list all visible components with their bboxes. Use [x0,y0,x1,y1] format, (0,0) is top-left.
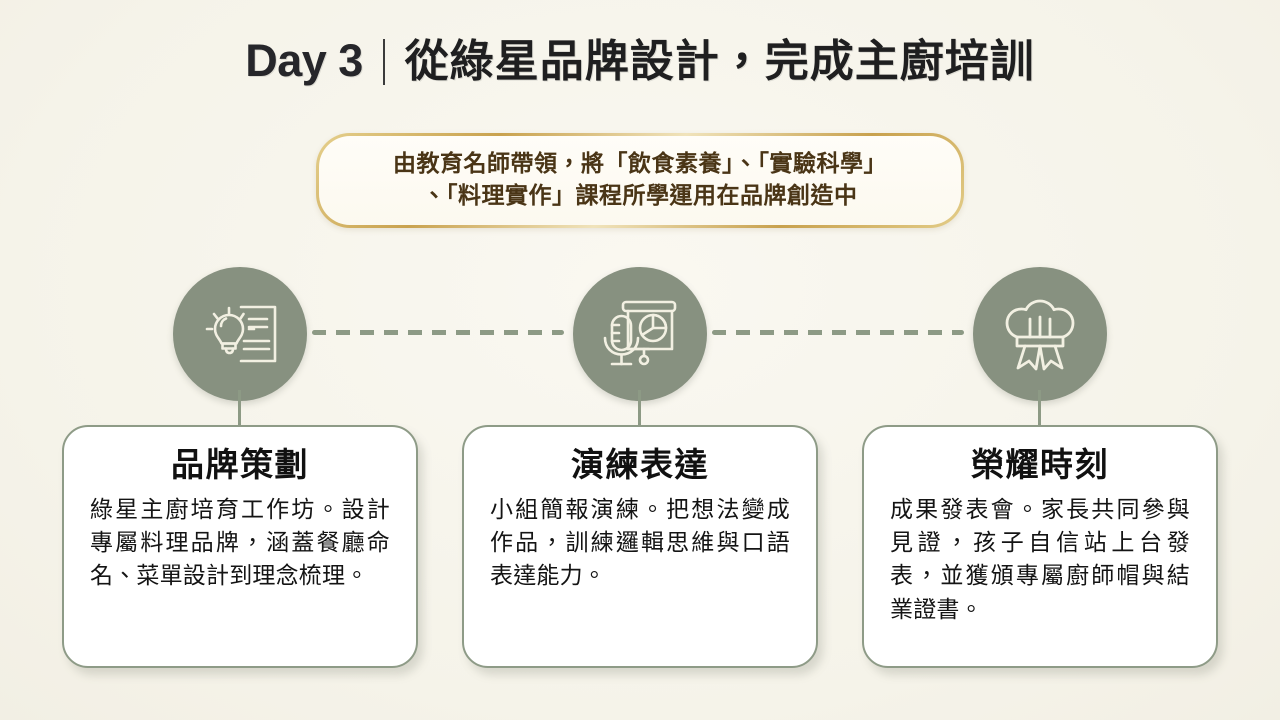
connector-dashed-line-2 [712,330,964,335]
step-card-title-1: 品牌策劃 [86,445,394,485]
step-card-title-3: 榮耀時刻 [886,445,1194,485]
subtitle-line-1: 由教育名師帶領，將「飲食素養」、「實驗科學」 [345,148,935,180]
microphone-presentation-icon [597,294,683,374]
step-card-2[interactable]: 演練表達 小組簡報演練。把想法變成作品，訓練邏輯思維與口語表達能力。 [462,425,818,668]
subtitle-line-2: 、「料理實作」課程所學運用在品牌創造中 [345,180,935,212]
step-icon-circle-2 [573,267,707,401]
step-card-1[interactable]: 品牌策劃 綠星主廚培育工作坊。設計專屬料理品牌，涵蓋餐廳命名、菜單設計到理念梳理… [62,425,418,668]
lightbulb-document-icon [197,295,283,373]
step-card-body-1: 綠星主廚培育工作坊。設計專屬料理品牌，涵蓋餐廳命名、菜單設計到理念梳理。 [86,493,394,593]
connector-dashed-line-1 [312,330,564,335]
step-icon-circle-1 [173,267,307,401]
step-icon-circle-3 [973,267,1107,401]
step-card-body-2: 小組簡報演練。把想法變成作品，訓練邏輯思維與口語表達能力。 [486,493,794,593]
step-card-title-2: 演練表達 [486,445,794,485]
chef-hat-award-icon [999,293,1081,375]
title-divider [383,39,385,85]
page-title: Day 3 從綠星品牌設計，完成主廚培訓 [0,38,1280,86]
title-day-label: Day 3 [245,38,363,86]
step-card-3[interactable]: 榮耀時刻 成果發表會。家長共同參與見證，孩子自信站上台發表，並獲頒專屬廚師帽與結… [862,425,1218,668]
slide-canvas: Day 3 從綠星品牌設計，完成主廚培訓 由教育名師帶領，將「飲食素養」、「實驗… [0,0,1280,720]
title-main-text: 從綠星品牌設計，完成主廚培訓 [405,40,1035,84]
step-card-body-3: 成果發表會。家長共同參與見證，孩子自信站上台發表，並獲頒專屬廚師帽與結業證書。 [886,493,1194,626]
subtitle-banner: 由教育名師帶領，將「飲食素養」、「實驗科學」 、「料理實作」課程所學運用在品牌創… [316,133,964,228]
